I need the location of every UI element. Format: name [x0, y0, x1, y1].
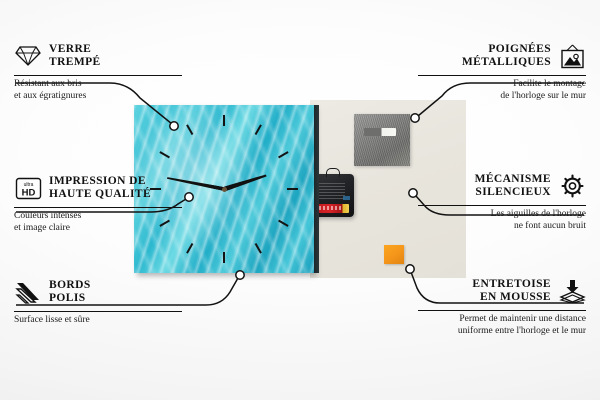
clock-tick — [278, 220, 289, 227]
clock-hour-hand — [223, 173, 266, 191]
metal-mounting-bracket — [354, 114, 410, 166]
feature-header: VERRE TREMPÉ — [14, 40, 182, 72]
mechanism-indicator — [343, 196, 350, 200]
feature-mecanisme-silencieux: MÉCANISME SILENCIEUX Les aiguilles de l'… — [418, 170, 586, 232]
feature-divider — [418, 75, 586, 76]
feature-divider — [418, 205, 586, 206]
feature-bords-polis: BORDS POLIS Surface lisse et sûre — [14, 276, 182, 327]
feature-title: IMPRESSION DE HAUTE QUALITÉ — [49, 175, 151, 201]
feature-description: Les aiguilles de l'horloge ne font aucun… — [418, 209, 586, 232]
clock-tick — [223, 252, 225, 263]
feature-title: VERRE TREMPÉ — [49, 43, 101, 69]
feature-description: Permet de maintenir une distance uniform… — [418, 314, 586, 337]
clock-tick — [255, 124, 262, 135]
feature-poignees-metalliques: POIGNÉES MÉTALLIQUES Facilite le montage… — [418, 40, 586, 102]
clock-tick — [287, 188, 298, 190]
feature-header: MÉCANISME SILENCIEUX — [418, 170, 586, 202]
feature-divider — [14, 207, 182, 208]
foam-spacer — [384, 245, 404, 264]
feature-impression-haute-qualite: ultra HD IMPRESSION DE HAUTE QUALITÉ Cou… — [14, 172, 182, 234]
feature-header: POIGNÉES MÉTALLIQUES — [418, 40, 586, 72]
feature-title: POIGNÉES MÉTALLIQUES — [462, 43, 551, 69]
feature-header: BORDS POLIS — [14, 276, 182, 308]
feature-title: MÉCANISME SILENCIEUX — [475, 173, 551, 199]
diamond-icon — [14, 42, 42, 70]
feature-verre-trempe: VERRE TREMPÉ Résistant aux bris et aux é… — [14, 40, 182, 102]
clock-tick — [255, 243, 262, 254]
clock-center-cap — [222, 187, 227, 192]
clock-tick — [186, 124, 193, 135]
feature-divider — [418, 310, 586, 311]
clock-tick — [223, 115, 225, 126]
mechanism-label — [315, 183, 345, 199]
product-infographic: VERRE TREMPÉ Résistant aux bris et aux é… — [0, 0, 600, 400]
clock-tick — [278, 151, 289, 158]
feature-header: ENTRETOISE EN MOUSSE — [418, 275, 586, 307]
clock-tick — [159, 151, 170, 158]
clock-tick — [186, 243, 193, 254]
svg-text:HD: HD — [21, 187, 35, 198]
wall-mount-frame-icon — [558, 42, 586, 70]
mechanism-shaft — [326, 168, 340, 177]
feature-description: Facilite le montage de l'horloge sur le … — [418, 79, 586, 102]
polished-edges-icon — [14, 278, 42, 306]
feature-description: Couleurs intenses et image claire — [14, 211, 182, 234]
feature-description: Surface lisse et sûre — [14, 315, 182, 327]
feature-title: BORDS POLIS — [49, 279, 91, 305]
product-photo — [134, 100, 466, 278]
gear-icon — [558, 172, 586, 200]
feature-header: ultra HD IMPRESSION DE HAUTE QUALITÉ — [14, 172, 182, 204]
bracket-slot — [364, 128, 396, 136]
feature-title: ENTRETOISE EN MOUSSE — [472, 278, 551, 304]
foam-spacer-icon — [558, 277, 586, 305]
feature-description: Résistant aux bris et aux égratignures — [14, 79, 182, 102]
ultra-hd-icon: ultra HD — [14, 174, 42, 202]
feature-entretoise-en-mousse: ENTRETOISE EN MOUSSE Permet de maintenir… — [418, 275, 586, 337]
feature-divider — [14, 311, 182, 312]
feature-divider — [14, 75, 182, 76]
